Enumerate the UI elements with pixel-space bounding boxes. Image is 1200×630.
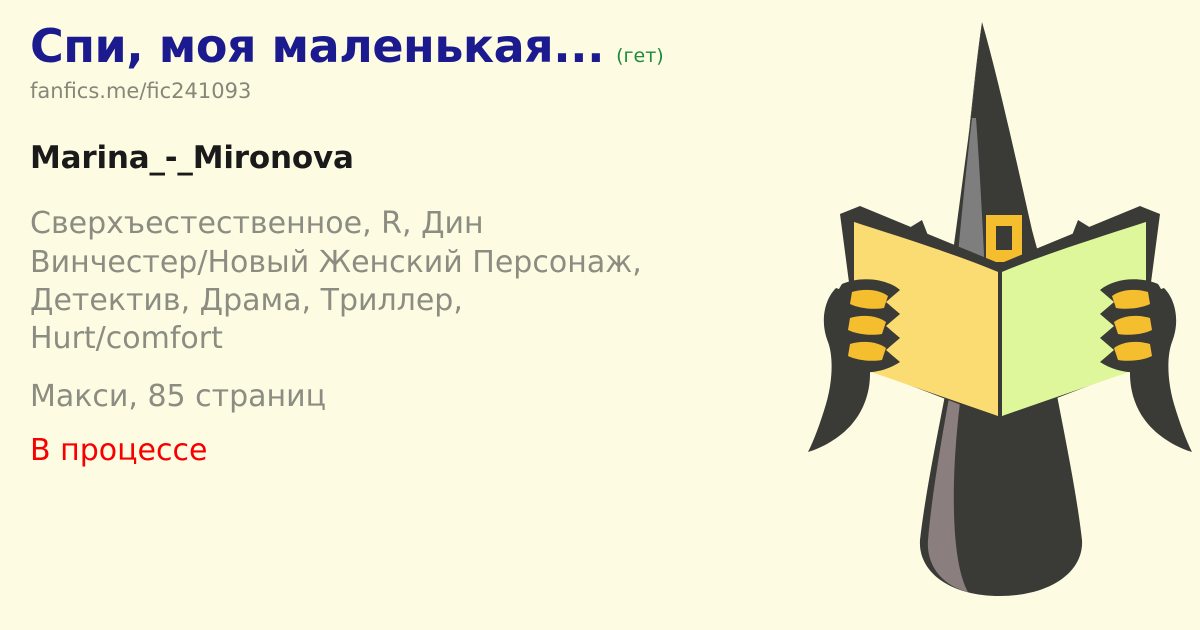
size-info: Макси, 85 страниц xyxy=(30,378,830,416)
category-badge: (гет) xyxy=(616,45,664,67)
left-hand xyxy=(808,279,900,452)
book-spine xyxy=(998,272,1002,418)
hat-buckle xyxy=(986,215,1022,262)
title-row: Спи, моя маленькая... (гет) xyxy=(30,22,830,70)
right-hand xyxy=(1100,279,1192,452)
source-url[interactable]: fanfics.me/fic241093 xyxy=(30,80,830,103)
preview-card: Спи, моя маленькая... (гет) fanfics.me/f… xyxy=(0,0,1200,630)
author-name[interactable]: Marina_-_Mironova xyxy=(30,141,830,175)
page-title: Спи, моя маленькая... xyxy=(30,22,604,70)
witch-reading-book-illustration xyxy=(800,0,1200,630)
tags-list: Сверхъестественное, R, Дин Винчестер/Нов… xyxy=(30,205,650,357)
info-column: Спи, моя маленькая... (гет) fanfics.me/f… xyxy=(30,22,830,470)
status-badge: В процессе xyxy=(30,432,830,470)
